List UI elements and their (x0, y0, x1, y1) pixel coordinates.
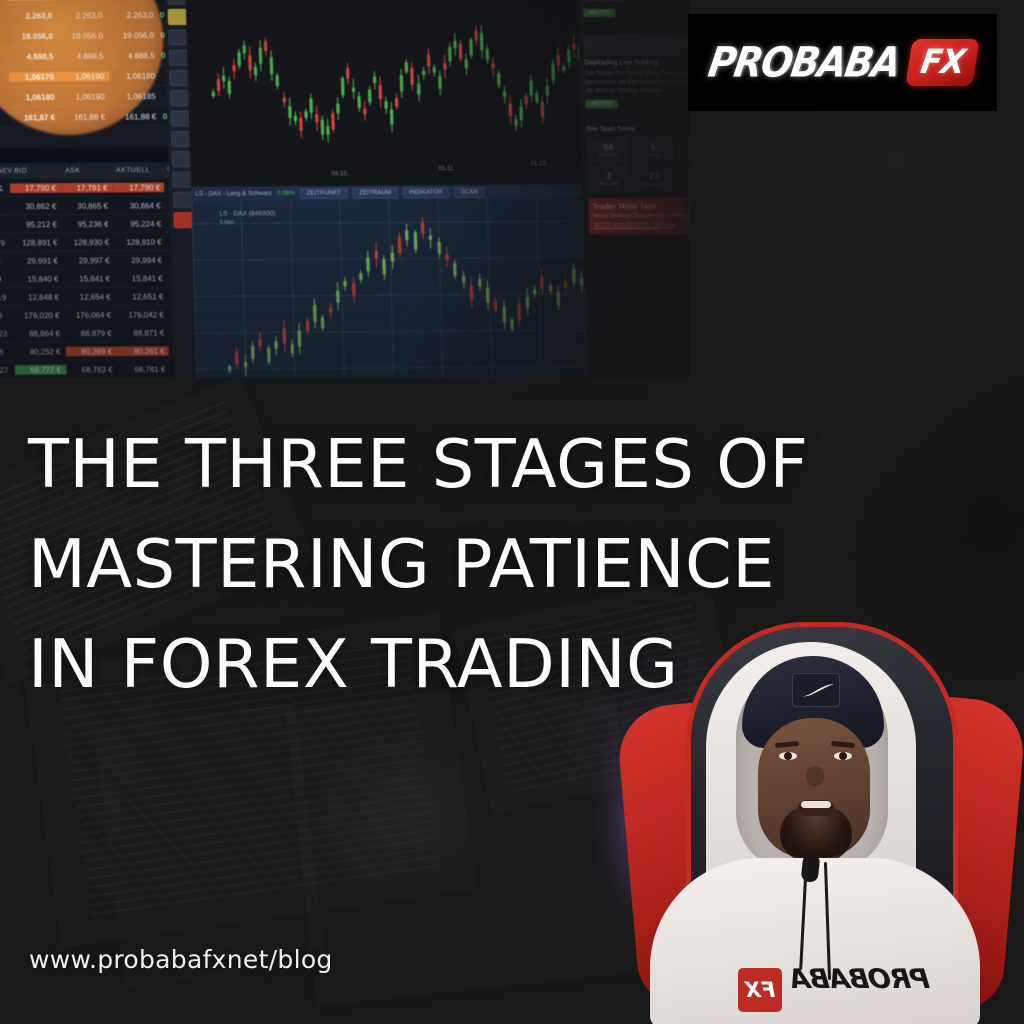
poster-canvas: 5121,061791,061811,06180-0,27 %TO5012.26… (0, 0, 1024, 1024)
headline-line-2: MASTERING PATIENCE (28, 514, 888, 614)
website-url[interactable]: www.probabafxnet/blog (29, 945, 333, 974)
monitor-shade-layer (0, 0, 690, 378)
eye-left (779, 752, 797, 760)
hoodie-wordmark: PROBABA (788, 964, 931, 995)
probabafx-logo[interactable]: PROBABA FX (688, 14, 997, 111)
presenter-photo: PROBABA (610, 600, 1024, 1024)
trading-terminal-screenshot: 5121,061791,061811,06180-0,27 %TO5012.26… (0, 0, 690, 378)
logo-fx-text: FX (918, 43, 967, 82)
nike-swoosh-icon (797, 684, 835, 697)
logo-fx-badge: FX (905, 39, 980, 86)
hoodie-fx-badge (738, 968, 782, 1012)
nose (806, 766, 824, 786)
headline-line-1: THE THREE STAGES OF (28, 414, 888, 514)
eye-right (834, 752, 852, 760)
logo-wordmark: PROBABA (706, 38, 904, 86)
mouth (798, 800, 834, 816)
white-hoodie (650, 858, 980, 1024)
